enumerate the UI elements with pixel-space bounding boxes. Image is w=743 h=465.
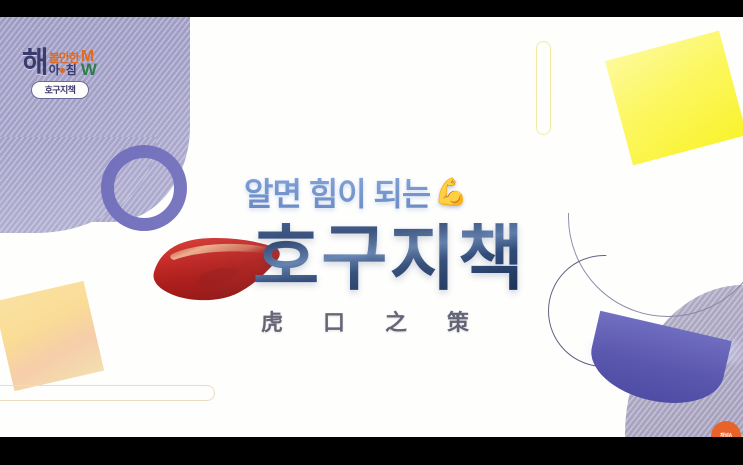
logo-letter-w: W (81, 63, 97, 77)
logo-middle-text: 볼만한 아 침 (49, 52, 79, 78)
main-title: 호구지책 (253, 223, 526, 295)
logo-wordmark: 해 볼만한 아 침 M W (22, 40, 126, 78)
hanja-char-1: 虎 (261, 305, 283, 337)
yellow-square-shape (605, 31, 743, 166)
logo-mw-letters: M W (81, 50, 97, 78)
logo-segment-badge: 호구지책 (31, 81, 89, 99)
logo-chim-char: 침 (66, 64, 76, 76)
letterbox-bar-top (0, 0, 743, 17)
flexed-biceps-icon: 💪 (434, 176, 467, 208)
logo-dot-icon (60, 68, 65, 73)
red-cloth-graphic (150, 228, 282, 304)
video-frame: 해 볼만한 아 침 M W 호구지책 알면 힘이 되는 (0, 17, 743, 437)
logo-a-char: 아 (49, 64, 59, 76)
letterbox-bar-bottom (0, 437, 743, 465)
yellow-capsule-outline (536, 41, 551, 135)
hanja-subtitle: 虎 口 之 策 (261, 305, 469, 337)
hanja-char-2: 口 (323, 305, 345, 337)
logo-hae-char: 해 (22, 50, 48, 78)
tagline-text: 알면 힘이 되는 (244, 169, 430, 215)
tagline: 알면 힘이 되는 💪 (244, 169, 467, 215)
broadcaster-logo: 해 볼만한 아 침 M W 호구지책 (22, 40, 126, 99)
cream-capsule-outline (0, 385, 215, 401)
hanja-char-3: 之 (385, 305, 407, 337)
orange-square-shape (0, 281, 104, 391)
hanja-char-4: 策 (447, 305, 469, 337)
video-title-card: 해 볼만한 아 침 M W 호구지책 알면 힘이 되는 (0, 0, 743, 465)
logo-achim-text: 아 침 (49, 64, 79, 76)
purple-ring-shape (101, 145, 187, 231)
